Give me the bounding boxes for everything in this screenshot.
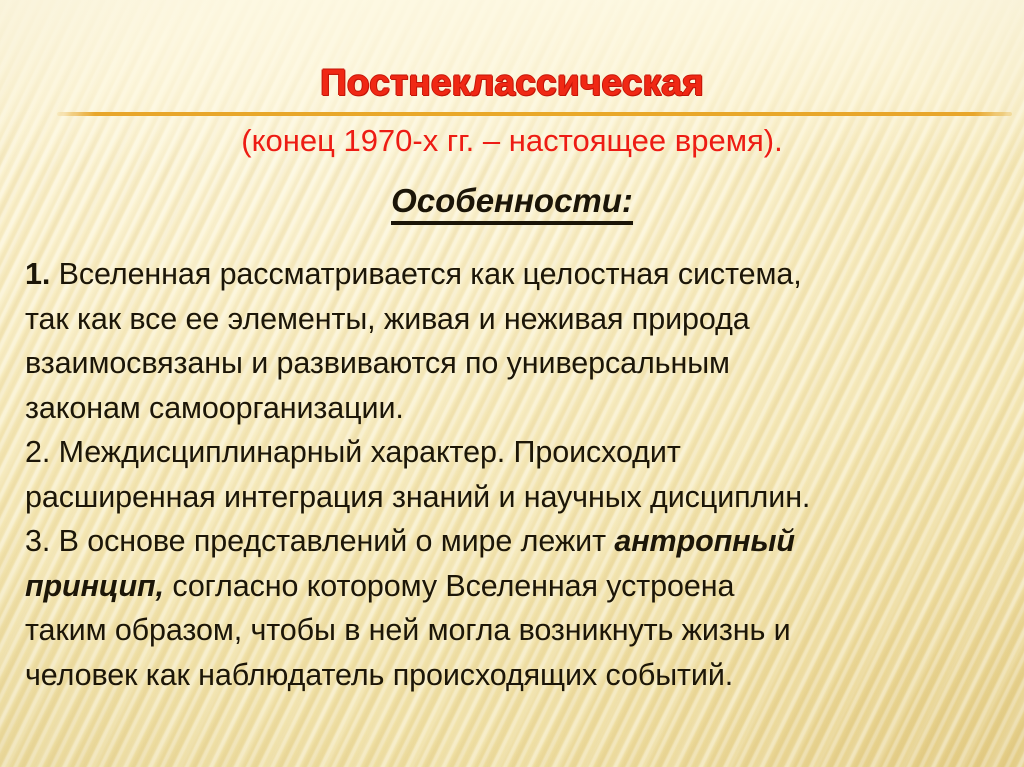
- body-text-line: 1. Вселенная рассматривается как целостн…: [25, 252, 1000, 297]
- title-divider-rule: [57, 112, 1012, 116]
- body-text-segment: законам самоорганизации.: [25, 391, 404, 425]
- slide-content: Постнеклассическая (конец 1970-х гг. – н…: [0, 0, 1024, 767]
- body-text-segment: 1.: [25, 257, 50, 291]
- body-text-segment: таким образом, чтобы в ней могла возникн…: [25, 613, 791, 647]
- body-text-line: 2. Междисциплинарный характер. Происходи…: [25, 430, 1000, 475]
- body-text-segment: расширенная интеграция знаний и научных …: [25, 480, 810, 514]
- slide-title: Постнеклассическая: [0, 62, 1024, 104]
- body-text-segment: человек как наблюдатель происходящих соб…: [25, 658, 733, 692]
- body-text-line: расширенная интеграция знаний и научных …: [25, 475, 1000, 520]
- body-text-segment: согласно которому Вселенная устроена: [164, 569, 734, 603]
- body-text-line: 3. В основе представлений о мире лежит а…: [25, 519, 1000, 564]
- section-heading: Особенности:: [0, 182, 1024, 225]
- section-heading-text: Особенности:: [391, 182, 633, 225]
- slide-canvas: Постнеклассическая (конец 1970-х гг. – н…: [0, 0, 1024, 767]
- body-text-segment: взаимосвязаны и развиваются по универсал…: [25, 346, 730, 380]
- body-text-line: человек как наблюдатель происходящих соб…: [25, 653, 1000, 698]
- body-text-line: так как все ее элементы, живая и неживая…: [25, 297, 1000, 342]
- body-text-segment: 2. Междисциплинарный характер. Происходи…: [25, 435, 681, 469]
- body-text-block: 1. Вселенная рассматривается как целостн…: [25, 252, 1000, 697]
- body-text-segment: антропный: [614, 524, 795, 558]
- body-text-segment: принцип,: [25, 569, 164, 603]
- slide-subtitle: (конец 1970-х гг. – настоящее время).: [0, 123, 1024, 159]
- body-text-segment: Вселенная рассматривается как целостная …: [50, 257, 801, 291]
- body-text-line: принцип, согласно которому Вселенная уст…: [25, 564, 1000, 609]
- body-text-line: таким образом, чтобы в ней могла возникн…: [25, 608, 1000, 653]
- body-text-segment: 3. В основе представлений о мире лежит: [25, 524, 614, 558]
- body-text-line: законам самоорганизации.: [25, 386, 1000, 431]
- body-text-segment: так как все ее элементы, живая и неживая…: [25, 302, 750, 336]
- body-text-line: взаимосвязаны и развиваются по универсал…: [25, 341, 1000, 386]
